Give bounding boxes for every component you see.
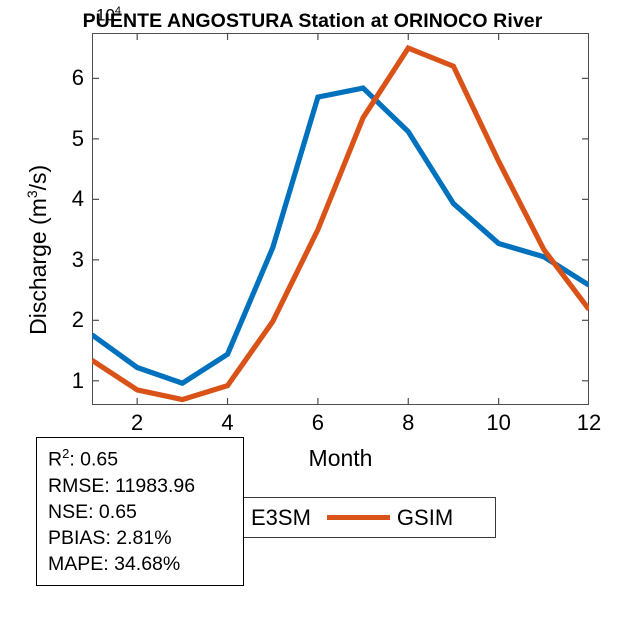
legend-swatch-gsim-icon	[327, 515, 390, 520]
stat-pbias: PBIAS: 2.81%	[48, 525, 233, 551]
statistics-box: R2: 0.65 RMSE: 11983.96 NSE: 0.65 PBIAS:…	[36, 437, 244, 586]
y-tick-label: 2	[44, 309, 84, 331]
chart-figure: PUENTE ANGOSTURA Station at ORINOCO Rive…	[0, 0, 625, 625]
x-tick-label: 10	[474, 412, 524, 434]
x-tick-label: 8	[383, 412, 433, 434]
stat-r2-label: R	[48, 449, 62, 471]
x-tick-label: 12	[564, 412, 614, 434]
stat-mape: MAPE: 34.68%	[48, 551, 233, 577]
y-tick-label: 6	[44, 67, 84, 89]
legend-label-e3sm: E3SM	[251, 507, 311, 529]
y-tick-label: 1	[44, 370, 84, 392]
series-line-e3sm	[92, 88, 589, 383]
stat-r2-value: : 0.65	[69, 449, 118, 471]
exponent-base: 10	[96, 6, 115, 25]
x-tick-label: 4	[203, 412, 253, 434]
page-title: PUENTE ANGOSTURA Station at ORINOCO Rive…	[0, 10, 625, 33]
y-tick-label: 5	[44, 128, 84, 150]
y-tick-label: 4	[44, 188, 84, 210]
legend-entry-e3sm[interactable]: E3SM	[237, 498, 311, 537]
x-tick-label: 6	[293, 412, 343, 434]
x-tick-label: 2	[112, 412, 162, 434]
stat-rmse: RMSE: 11983.96	[48, 473, 233, 499]
y-tick-label: 3	[44, 249, 84, 271]
plot-area	[92, 33, 589, 405]
legend-label-gsim: GSIM	[397, 507, 453, 529]
series-line-gsim	[92, 48, 589, 399]
stat-r2: R2: 0.65	[48, 445, 233, 473]
exponent-power: 4	[115, 5, 121, 17]
stat-nse: NSE: 0.65	[48, 499, 233, 525]
chart-legend[interactable]: E3SM GSIM	[228, 497, 496, 538]
axis-exponent-label: 104	[96, 6, 121, 24]
legend-entry-gsim[interactable]: GSIM	[311, 498, 453, 537]
